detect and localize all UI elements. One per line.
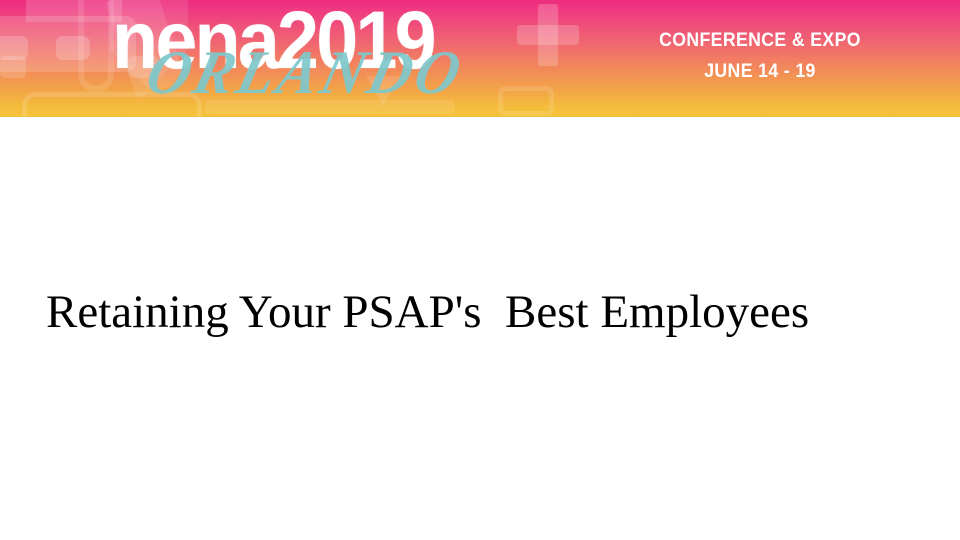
ambulance-roof-icon (26, 0, 122, 22)
conference-title-text: CONFERENCE & EXPO (574, 29, 946, 53)
nena-logo: nena2019 ORLANDO (112, 0, 532, 98)
title-placeholder: Retaining Your PSAP's Best Employees (0, 283, 960, 341)
slide-canvas: nena2019 ORLANDO CONFERENCE & EXPO JUNE … (0, 0, 960, 540)
orlando-script-text: ORLANDO (141, 42, 471, 104)
event-banner: nena2019 ORLANDO CONFERENCE & EXPO JUNE … (0, 0, 960, 117)
medical-cross-icon (538, 4, 558, 66)
ambulance-wheel-icon (78, 0, 114, 92)
decorative-square-shape (0, 56, 26, 78)
ambulance-window-icon (56, 36, 90, 60)
conference-dates-text: JUNE 14 - 19 (574, 60, 946, 84)
conference-info: CONFERENCE & EXPO JUNE 14 - 19 (560, 29, 960, 84)
ambulance-window-icon (0, 36, 28, 60)
page-title: Retaining Your PSAP's Best Employees (46, 283, 914, 341)
